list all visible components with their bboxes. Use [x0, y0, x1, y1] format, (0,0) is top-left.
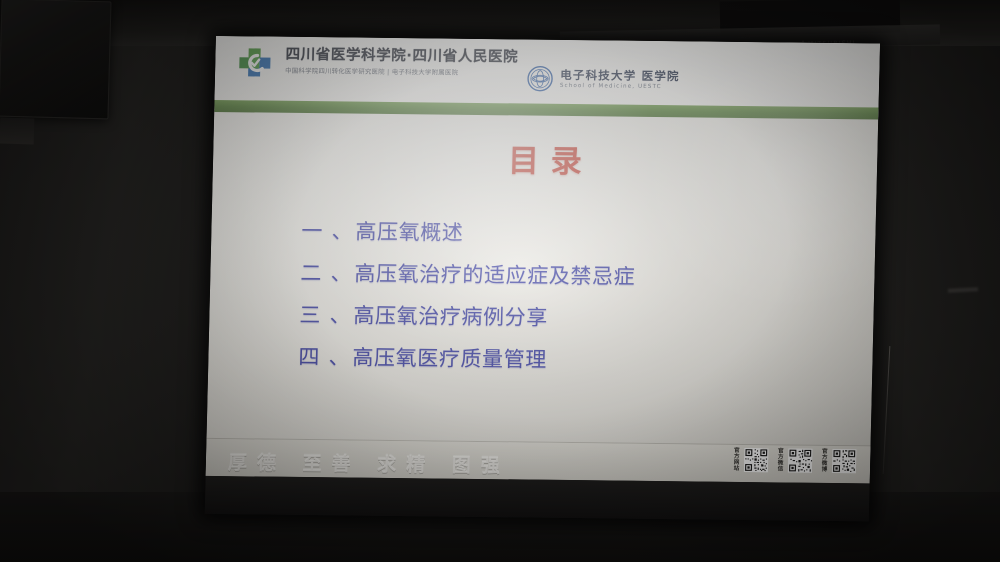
qr-code-icon [744, 448, 769, 472]
partner-text-block: 电子科技大学 医学院 School of Medicine, UESTC [560, 69, 680, 91]
toc-number: 四 [298, 341, 327, 371]
toc-number: 一 [301, 215, 330, 245]
list-item: 一 、 高压氧概述 [301, 215, 822, 251]
qr-code-group: 官方网站 [731, 448, 857, 474]
toc-label: 高压氧医疗质量管理 [352, 342, 547, 374]
partner-name-en: School of Medicine, UESTC [560, 83, 680, 90]
qr-label: 官方微博 [819, 449, 831, 473]
room-scene: MITSUBISHI [0, 0, 1000, 562]
hospital-text-block: 四川省医学科学院·四川省人民医院 中国科学院四川转化医学研究医院 | 电子科技大… [285, 46, 518, 78]
toc-separator: 、 [328, 257, 355, 287]
screen-surface: 四川省医学科学院·四川省人民医院 中国科学院四川转化医学研究医院 | 电子科技大… [205, 36, 880, 521]
toc-separator: 、 [329, 215, 356, 245]
list-item: 二 、 高压氧治疗的适应症及禁忌症 [300, 257, 821, 293]
toc-number: 三 [299, 299, 328, 329]
presentation-slide: 四川省医学科学院·四川省人民医院 中国科学院四川转化医学研究医院 | 电子科技大… [206, 36, 880, 483]
toc-label: 高压氧治疗的适应症及禁忌症 [354, 258, 636, 291]
qr-code-icon [832, 449, 857, 473]
hospital-name: 四川省医学科学院·四川省人民医院 [285, 48, 518, 66]
header-divider-bar [214, 100, 878, 120]
slide-title: 目 录 [213, 132, 878, 185]
toc-separator: 、 [326, 341, 353, 371]
screen-lower-casing [205, 476, 870, 522]
toc-number: 二 [300, 257, 329, 287]
monitor-stand [0, 118, 34, 145]
partner-name-cn: 电子科技大学 医学院 [560, 69, 680, 83]
qr-code-icon [788, 449, 813, 473]
toc-separator: 、 [327, 299, 354, 329]
slide-header: 四川省医学科学院·四川省人民医院 中国科学院四川转化医学研究医院 | 电子科技大… [214, 36, 880, 118]
hospital-subtitle: 中国科学院四川转化医学研究医院 | 电子科技大学附属医院 [285, 66, 518, 78]
table-of-contents-list: 一 、 高压氧概述 二 、 高压氧治疗的适应症及禁忌症 三 、 高压氧治疗病例分… [298, 215, 822, 389]
hospital-branding: 四川省医学科学院·四川省人民医院 中国科学院四川转化医学研究医院 | 电子科技大… [237, 45, 518, 82]
partner-branding: 电子科技大学 医学院 School of Medicine, UESTC [527, 66, 680, 94]
hospital-motto: 厚德 至善 求精 图强 [228, 448, 510, 478]
list-item: 三 、 高压氧治疗病例分享 [299, 299, 820, 335]
university-seal-icon [527, 66, 554, 92]
qr-block-website: 官方网站 [731, 448, 769, 473]
toc-label: 高压氧治疗病例分享 [353, 300, 548, 332]
projection-screen: 四川省医学科学院·四川省人民医院 中国科学院四川转化医学研究医院 | 电子科技大… [205, 36, 880, 521]
qr-block-wechat: 官方微信 [775, 448, 813, 473]
qr-block-weibo: 官方微博 [819, 449, 857, 474]
medical-cross-icon [237, 45, 276, 79]
list-item: 四 、 高压氧医疗质量管理 [298, 341, 819, 377]
qr-label: 官方网站 [731, 448, 743, 472]
qr-label: 官方微信 [775, 448, 787, 472]
wall-monitor [0, 0, 112, 119]
toc-label: 高压氧概述 [355, 216, 464, 247]
